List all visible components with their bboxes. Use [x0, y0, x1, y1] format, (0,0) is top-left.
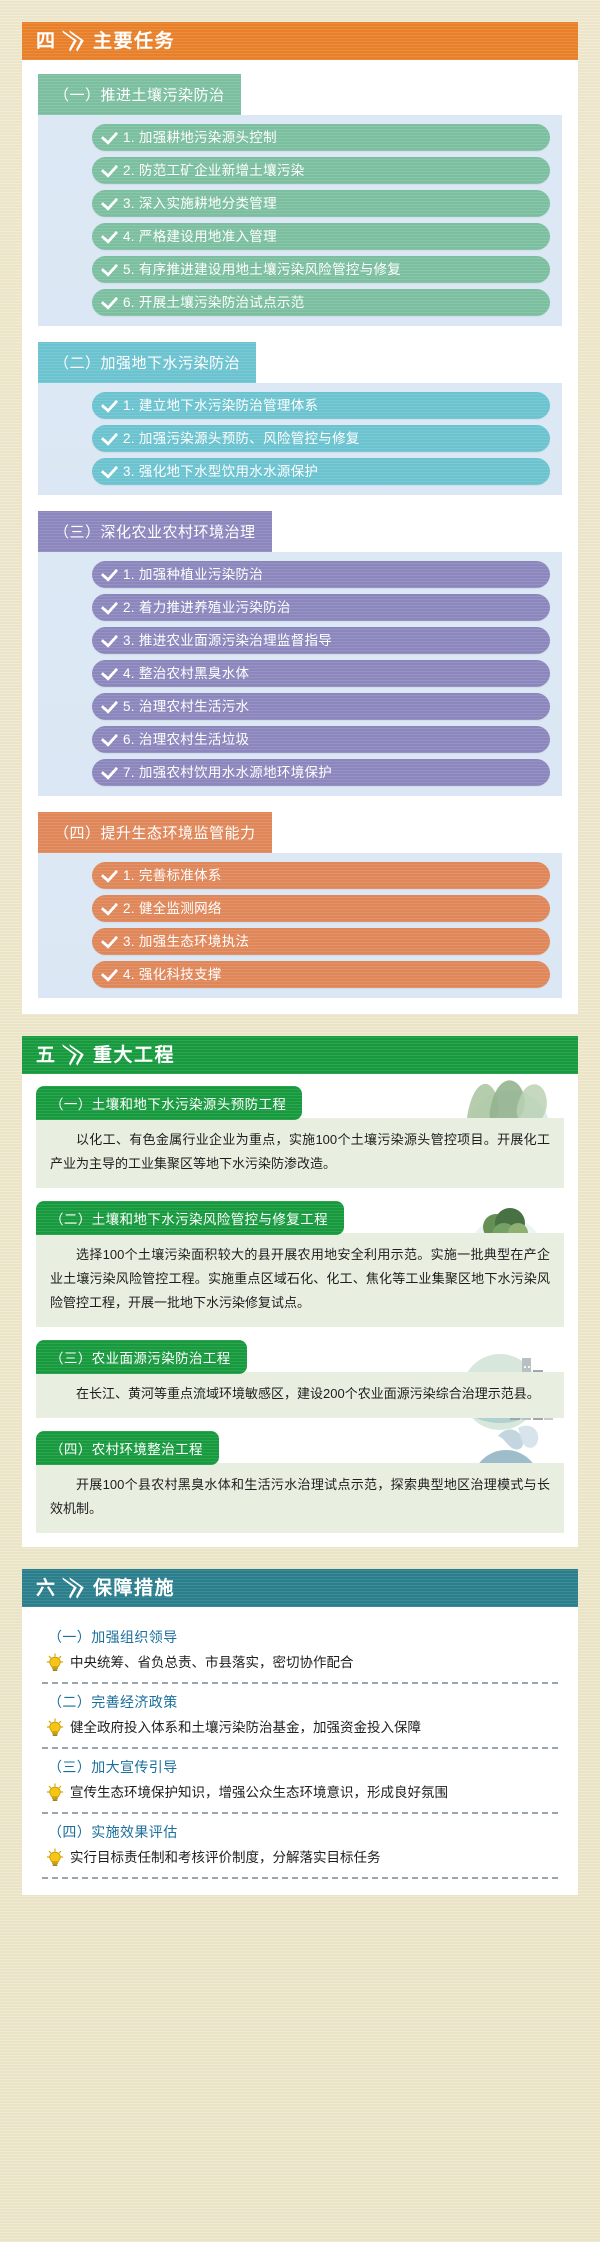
- lightbulb-icon: [46, 1718, 64, 1738]
- task-item[interactable]: 2. 加强污染源头预防、风险管控与修复: [92, 425, 550, 452]
- check-icon: [100, 430, 117, 447]
- main-tasks-body: （一）推进土壤污染防治 1. 加强耕地污染源头控制 2. 防范工矿企业新增土壤污…: [22, 60, 578, 1014]
- measure-title[interactable]: （二）完善经济政策: [40, 1684, 560, 1718]
- check-icon: [100, 195, 117, 212]
- task-item[interactable]: 2. 健全监测网络: [92, 895, 550, 922]
- lightbulb-icon: [46, 1653, 64, 1673]
- check-icon: [100, 261, 117, 278]
- measure-row: 实行目标责任制和考核评价制度，分解落实目标任务: [40, 1848, 560, 1877]
- project-body: 开展100个县农村黑臭水体和生活污水治理试点示范，探索典型地区治理模式与长效机制…: [36, 1463, 564, 1533]
- check-icon: [100, 599, 117, 616]
- section-header-safeguards: 六 保障措施: [22, 1569, 578, 1607]
- task-group-rural: （三）深化农业农村环境治理 1. 加强种植业污染防治 2. 着力推进养殖业污染防…: [38, 511, 562, 796]
- project-heading[interactable]: （四）农村环境整治工程: [36, 1431, 219, 1465]
- check-icon: [100, 966, 117, 983]
- task-group-heading[interactable]: （三）深化农业农村环境治理: [38, 511, 272, 552]
- measure-item: （一）加强组织领导 中央统筹、省负总责: [40, 1619, 560, 1684]
- project-card: （三）农业面源污染防治工程 在长江、黄河等重点流域环境敏感区，建设200个农业面…: [36, 1340, 564, 1418]
- project-body: 选择100个土壤污染面积较大的县开展农用地安全利用示范。实施一批典型在产企业土壤…: [36, 1233, 564, 1327]
- major-projects-body: （一）土壤和地下水污染源头预防工程 以化工、有色金属行业企业为重点，实施100个…: [22, 1074, 578, 1547]
- section-title: 重大工程: [93, 1046, 175, 1065]
- group-spacer: [38, 495, 562, 511]
- measure-text: 实行目标责任制和考核评价制度，分解落实目标任务: [70, 1848, 381, 1868]
- task-item[interactable]: 4. 整治农村黑臭水体: [92, 660, 550, 687]
- measure-title[interactable]: （四）实施效果评估: [40, 1814, 560, 1848]
- section-number: 六: [36, 1579, 56, 1598]
- project-card: （一）土壤和地下水污染源头预防工程 以化工、有色金属行业企业为重点，实施100个…: [36, 1086, 564, 1188]
- check-icon: [100, 463, 117, 480]
- check-icon: [100, 764, 117, 781]
- project-body: 以化工、有色金属行业企业为重点，实施100个土壤污染源头管控项目。开展化工产业为…: [36, 1118, 564, 1188]
- task-group-groundwater: （二）加强地下水污染防治 1. 建立地下水污染防治管理体系 2. 加强污染源头预…: [38, 342, 562, 495]
- divider: [42, 1877, 558, 1879]
- double-chevron-right-icon: [66, 1043, 86, 1067]
- section-title: 保障措施: [93, 1579, 175, 1598]
- task-group-heading[interactable]: （一）推进土壤污染防治: [38, 74, 241, 115]
- check-icon: [100, 162, 117, 179]
- task-group-heading[interactable]: （二）加强地下水污染防治: [38, 342, 256, 383]
- task-group-soil: （一）推进土壤污染防治 1. 加强耕地污染源头控制 2. 防范工矿企业新增土壤污…: [38, 74, 562, 326]
- project-heading[interactable]: （一）土壤和地下水污染源头预防工程: [36, 1086, 302, 1120]
- measure-row: 宣传生态环境保护知识，增强公众生态环境意识，形成良好氛围: [40, 1783, 560, 1812]
- infographic-page: 四 主要任务 （一）推进土壤污染防治 1. 加强耕地污染源头控制 2. 防范工矿…: [0, 0, 600, 2242]
- check-icon: [100, 731, 117, 748]
- check-icon: [100, 129, 117, 146]
- double-chevron-right-icon: [66, 1576, 86, 1600]
- measure-item: （四）实施效果评估 实行目标责任制和考: [40, 1814, 560, 1879]
- lightbulb-icon: [46, 1783, 64, 1803]
- group-spacer: [38, 326, 562, 342]
- project-body: 在长江、黄河等重点流域环境敏感区，建设200个农业面源污染综合治理示范县。: [36, 1372, 564, 1418]
- task-group-items: 1. 建立地下水污染防治管理体系 2. 加强污染源头预防、风险管控与修复 3. …: [38, 383, 562, 495]
- check-icon: [100, 933, 117, 950]
- measure-text: 中央统筹、省负总责、市县落实，密切协作配合: [70, 1653, 354, 1673]
- panel-spacer: [0, 1547, 600, 1569]
- task-group-items: 1. 完善标准体系 2. 健全监测网络 3. 加强生态环境执法 4. 强化科技支…: [38, 853, 562, 998]
- task-item[interactable]: 6. 开展土壤污染防治试点示范: [92, 289, 550, 316]
- top-spacer: [0, 0, 600, 22]
- task-item[interactable]: 5. 治理农村生活污水: [92, 693, 550, 720]
- task-item[interactable]: 3. 深入实施耕地分类管理: [92, 190, 550, 217]
- double-chevron-right-icon: [66, 29, 86, 53]
- section-header-major-projects: 五 重大工程: [22, 1036, 578, 1074]
- task-group-heading[interactable]: （四）提升生态环境监管能力: [38, 812, 272, 853]
- measure-text: 宣传生态环境保护知识，增强公众生态环境意识，形成良好氛围: [70, 1783, 448, 1803]
- measure-title[interactable]: （三）加大宣传引导: [40, 1749, 560, 1783]
- check-icon: [100, 294, 117, 311]
- measure-text: 健全政府投入体系和土壤污染防治基金，加强资金投入保障: [70, 1718, 421, 1738]
- check-icon: [100, 698, 117, 715]
- task-item[interactable]: 4. 严格建设用地准入管理: [92, 223, 550, 250]
- check-icon: [100, 867, 117, 884]
- task-item[interactable]: 2. 防范工矿企业新增土壤污染: [92, 157, 550, 184]
- task-item[interactable]: 1. 建立地下水污染防治管理体系: [92, 392, 550, 419]
- section-panel-major-projects: 五 重大工程 （一）土壤和地下水污染源头预防工程 以化工、有色金属行业企业为重: [22, 1036, 578, 1547]
- lightbulb-icon: [46, 1848, 64, 1868]
- measure-item: （二）完善经济政策 健全政府投入体系和: [40, 1684, 560, 1749]
- check-icon: [100, 665, 117, 682]
- section-panel-main-tasks: 四 主要任务 （一）推进土壤污染防治 1. 加强耕地污染源头控制 2. 防范工矿…: [22, 22, 578, 1014]
- task-item[interactable]: 3. 推进农业面源污染治理监督指导: [92, 627, 550, 654]
- measure-row: 中央统筹、省负总责、市县落实，密切协作配合: [40, 1653, 560, 1682]
- task-item[interactable]: 1. 加强耕地污染源头控制: [92, 124, 550, 151]
- project-card: （二）土壤和地下水污染风险管控与修复工程 选择100个土壤污染面积较大的县开展农…: [36, 1201, 564, 1327]
- task-group-supervision: （四）提升生态环境监管能力 1. 完善标准体系 2. 健全监测网络 3. 加强生…: [38, 812, 562, 998]
- project-card: （四）农村环境整治工程 开展100个县农村黑臭水体和生活污水治理试点示范，探索典…: [36, 1431, 564, 1533]
- group-spacer: [38, 796, 562, 812]
- section-title: 主要任务: [93, 32, 175, 51]
- check-icon: [100, 397, 117, 414]
- check-icon: [100, 632, 117, 649]
- check-icon: [100, 228, 117, 245]
- measure-row: 健全政府投入体系和土壤污染防治基金，加强资金投入保障: [40, 1718, 560, 1747]
- task-item[interactable]: 6. 治理农村生活垃圾: [92, 726, 550, 753]
- check-icon: [100, 900, 117, 917]
- task-item[interactable]: 4. 强化科技支撑: [92, 961, 550, 988]
- project-heading[interactable]: （二）土壤和地下水污染风险管控与修复工程: [36, 1201, 344, 1235]
- safeguards-body: （一）加强组织领导 中央统筹、省负总责: [22, 1607, 578, 1895]
- task-item[interactable]: 5. 有序推进建设用地土壤污染风险管控与修复: [92, 256, 550, 283]
- section-header-main-tasks: 四 主要任务: [22, 22, 578, 60]
- section-number: 五: [36, 1046, 56, 1065]
- panel-spacer: [0, 1014, 600, 1036]
- task-item[interactable]: 2. 着力推进养殖业污染防治: [92, 594, 550, 621]
- check-icon: [100, 566, 117, 583]
- task-item[interactable]: 3. 加强生态环境执法: [92, 928, 550, 955]
- task-item[interactable]: 1. 加强种植业污染防治: [92, 561, 550, 588]
- task-item[interactable]: 7. 加强农村饮用水水源地环境保护: [92, 759, 550, 786]
- task-item[interactable]: 1. 完善标准体系: [92, 862, 550, 889]
- project-heading[interactable]: （三）农业面源污染防治工程: [36, 1340, 247, 1374]
- section-number: 四: [36, 32, 56, 51]
- section-panel-safeguards: 六 保障措施 （一）加强组织领导: [22, 1569, 578, 1895]
- task-group-items: 1. 加强耕地污染源头控制 2. 防范工矿企业新增土壤污染 3. 深入实施耕地分…: [38, 115, 562, 326]
- measure-item: （三）加大宣传引导 宣传生态环境保护知: [40, 1749, 560, 1814]
- task-item[interactable]: 3. 强化地下水型饮用水水源保护: [92, 458, 550, 485]
- task-group-items: 1. 加强种植业污染防治 2. 着力推进养殖业污染防治 3. 推进农业面源污染治…: [38, 552, 562, 796]
- measure-title[interactable]: （一）加强组织领导: [40, 1619, 560, 1653]
